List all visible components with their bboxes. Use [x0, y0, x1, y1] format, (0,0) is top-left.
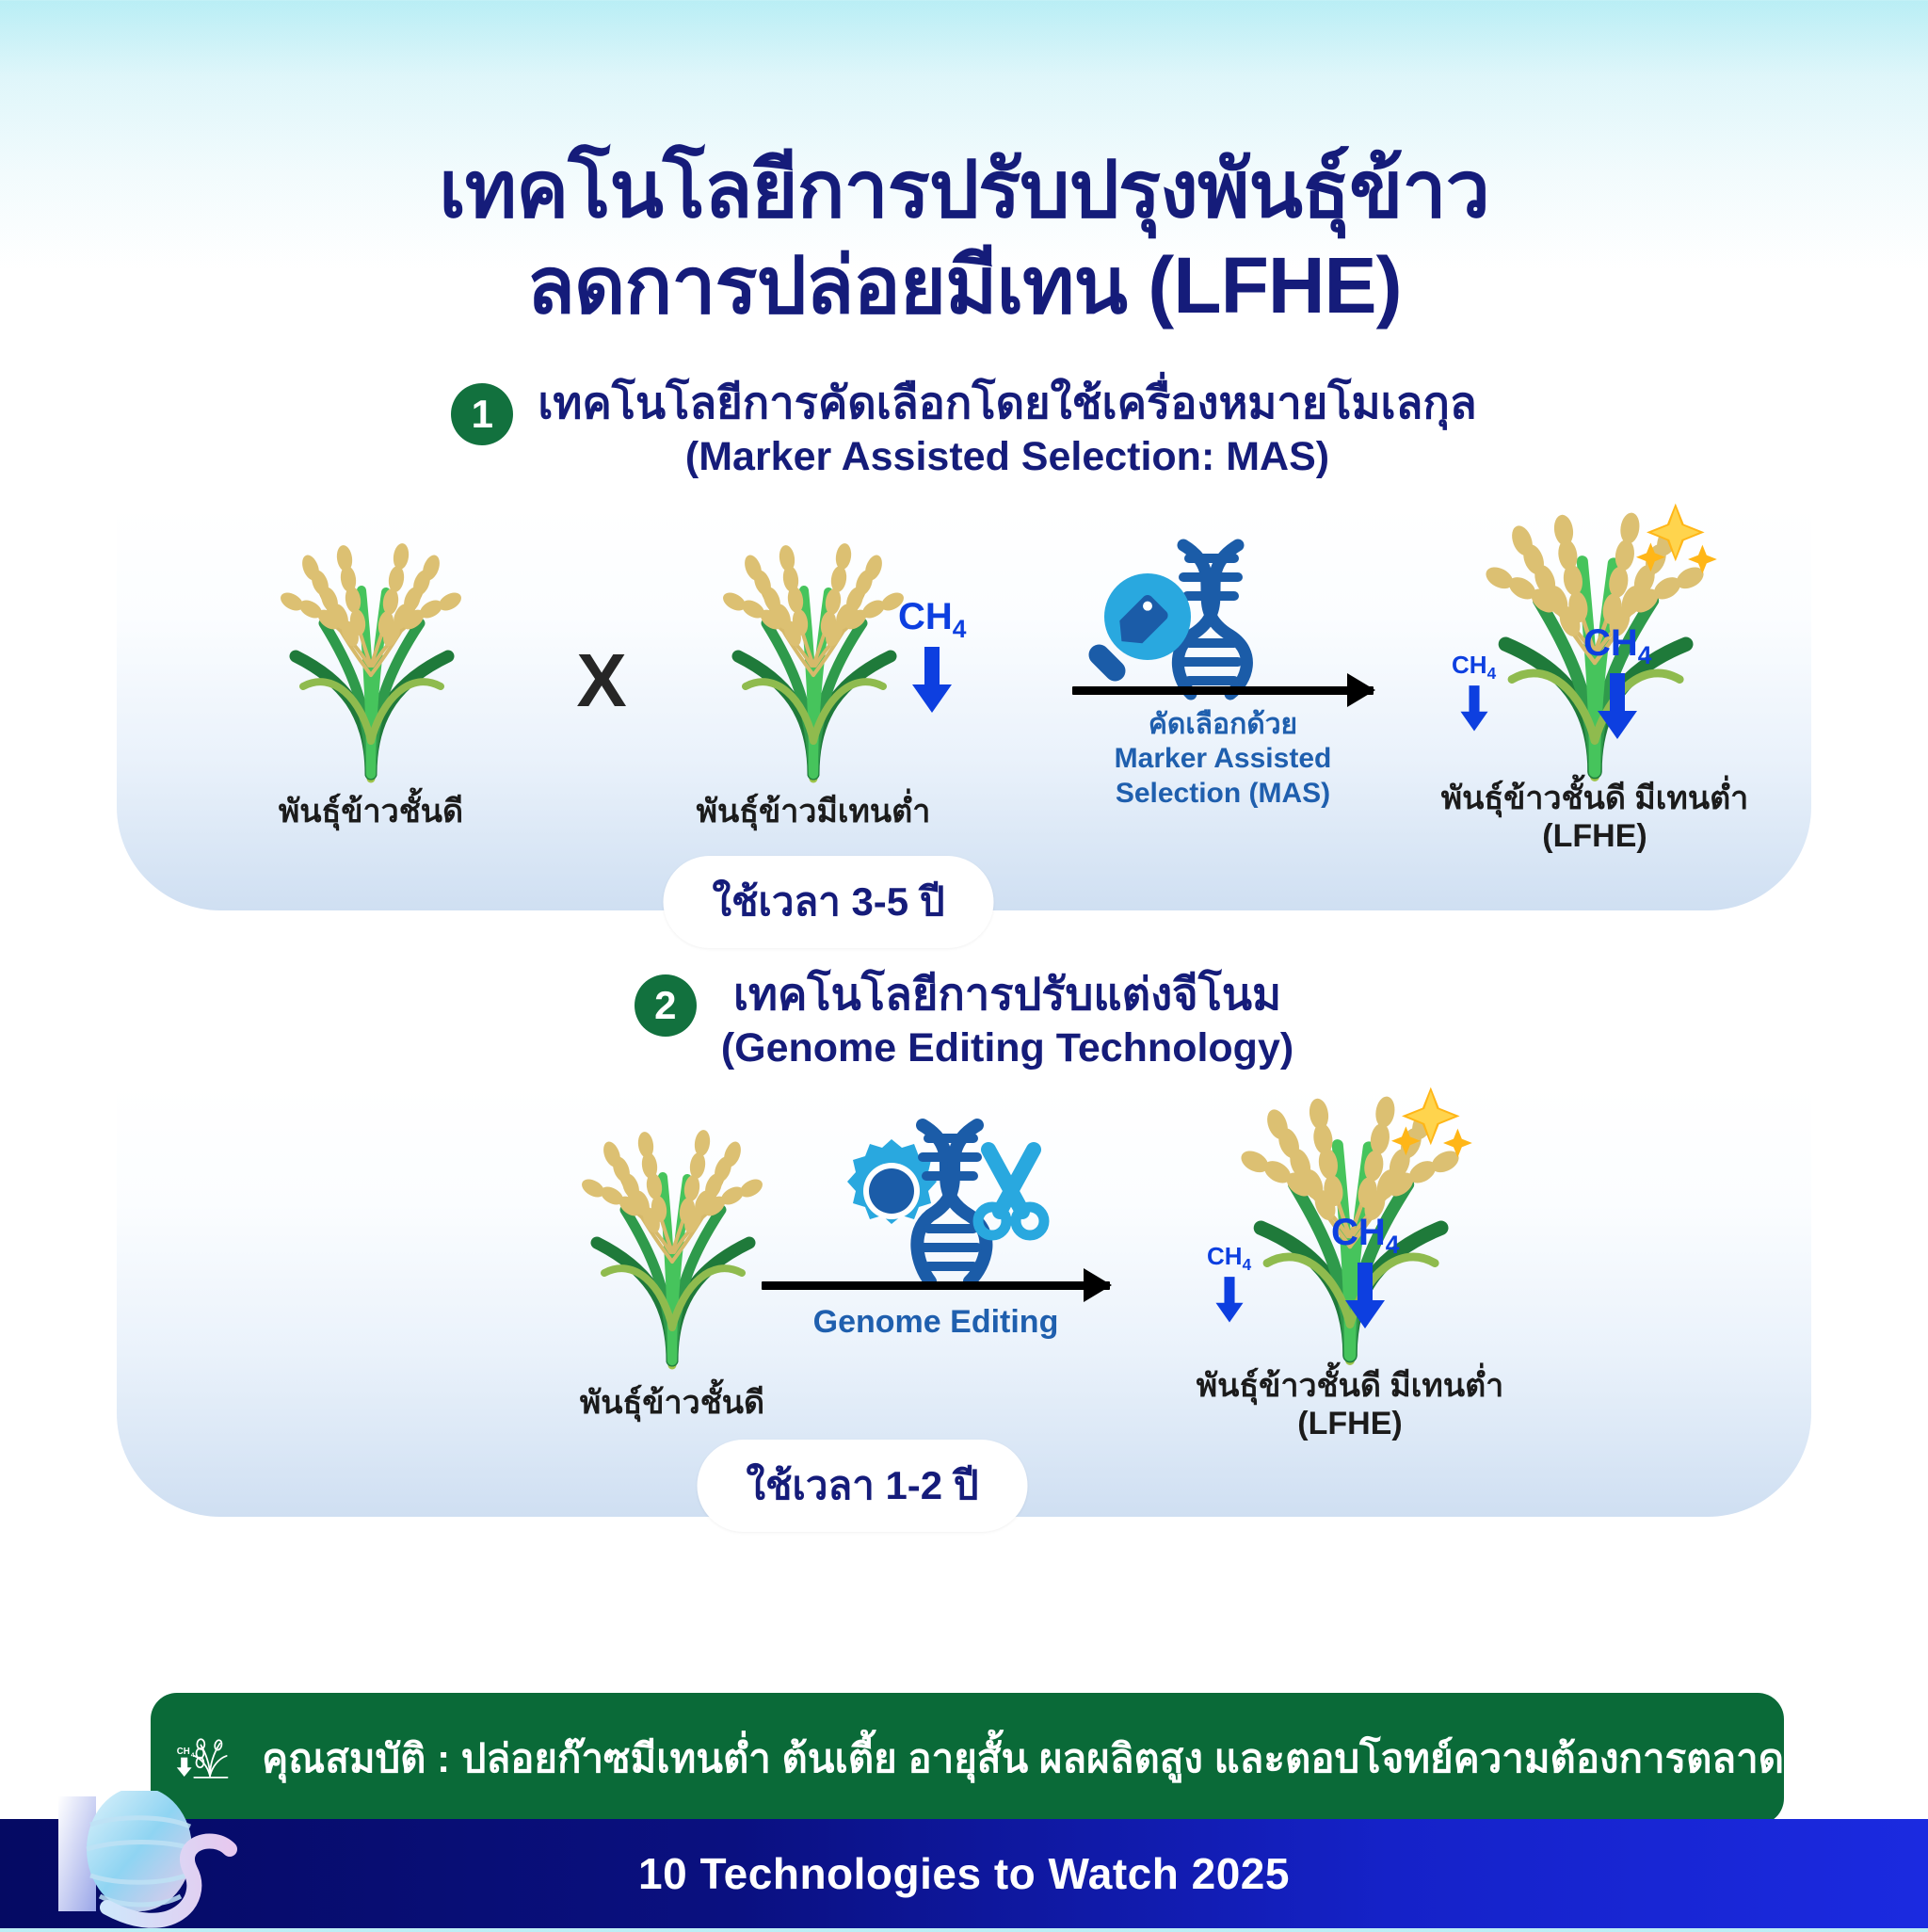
- mas-arrow-block: คัดเลือกด้วย Marker Assisted Selection (…: [1058, 686, 1388, 812]
- down-arrow-icon: [1213, 1277, 1246, 1324]
- plant-elite-1: พันธุ์ข้าวชั้นดี: [230, 524, 512, 830]
- genome-caption-en: Genome Editing: [747, 1303, 1124, 1342]
- process-arrow-icon: [762, 1281, 1110, 1290]
- sparkle-icon: [1391, 1087, 1472, 1157]
- ch4-label: CH: [1207, 1242, 1243, 1270]
- ch4-indicator-large: CH4: [1331, 1214, 1399, 1330]
- mas-process-icon-wrap: [1058, 534, 1303, 708]
- title-line-2: ลดการปล่อยมีเทน (LFHE): [0, 237, 1928, 333]
- down-arrow-icon: [1457, 685, 1491, 733]
- process-arrow-icon: [1072, 686, 1374, 695]
- down-arrow-icon: [908, 647, 956, 715]
- bottom-bar: 10 Technologies to Watch 2025: [0, 1819, 1928, 1928]
- mas-caption-th: คัดเลือกด้วย: [1058, 708, 1388, 743]
- ch4-indicator-large: CH4: [1583, 624, 1651, 741]
- plant-elite-1-label: พันธุ์ข้าวชั้นดี: [230, 793, 512, 830]
- section-2-card: พันธุ์ข้าวชั้นดี: [117, 1084, 1811, 1517]
- ch4-indicator-small: CH4: [1452, 652, 1496, 733]
- down-arrow-icon: [1341, 1263, 1390, 1330]
- section-2-heading-en: (Genome Editing Technology): [721, 1023, 1293, 1074]
- ch4-label: CH: [898, 596, 953, 637]
- section-2-heading: 2 เทคโนโลยีการปรับแต่งจีโนม (Genome Edit…: [0, 969, 1928, 1074]
- section-2-heading-th: เทคโนโลยีการปรับแต่งจีโนม: [721, 969, 1293, 1020]
- cross-symbol: X: [559, 637, 644, 724]
- page-title: เทคโนโลยีการปรับปรุงพันธุ์ข้าว ลดการปล่อ…: [0, 0, 1928, 334]
- genome-arrow-block: Genome Editing: [747, 1281, 1124, 1342]
- section-1-heading-en: (Marker Assisted Selection: MAS): [538, 432, 1476, 483]
- gear-dna-scissors-icon: [804, 1112, 1068, 1300]
- genome-editing-icon-wrap: [795, 1112, 1077, 1305]
- ch4-indicator-small: CH4: [1207, 1244, 1251, 1324]
- ch4-label: CH: [1452, 651, 1487, 679]
- ch4-label: CH: [1331, 1212, 1386, 1253]
- ch4-subscript: 4: [1638, 641, 1652, 669]
- magnifier-dna-icon: [1072, 534, 1289, 703]
- properties-text: คุณสมบัติ : ปล่อยก๊าซมีเทนต่ำ ต้นเตี้ย อ…: [262, 1728, 1784, 1790]
- properties-bar: CH 4 คุณสมบัติ : ปล่อยก๊าซมีเทนต่ำ ต้นเต…: [151, 1693, 1784, 1825]
- bottom-bar-text: 10 Technologies to Watch 2025: [638, 1848, 1290, 1899]
- title-line-1: เทคโนโลยีการปรับปรุงพันธุ์ข้าว: [0, 141, 1928, 237]
- ch4-subscript: 4: [1243, 1255, 1252, 1274]
- section-1-heading: 1 เทคโนโลยีการคัดเลือกโดยใช้เครื่องหมายโ…: [0, 378, 1928, 483]
- plant-low-methane-label: พันธุ์ข้าวมีเทนต่ำ: [672, 793, 955, 830]
- section-2-duration-pill: ใช้เวลา 1-2 ปี: [698, 1440, 1028, 1532]
- section-1-badge: 1: [451, 383, 513, 445]
- section-2-badge: 2: [635, 974, 697, 1037]
- plant-elite-2-label: พันธุ์ข้าวชั้นดี: [531, 1384, 813, 1422]
- mas-caption-en-2: Selection (MAS): [1058, 777, 1388, 812]
- plant-result-1-label-en: (LFHE): [1397, 817, 1792, 855]
- plant-elite-2: พันธุ์ข้าวชั้นดี: [531, 1106, 813, 1422]
- plant-result-1-label-th: พันธุ์ข้าวชั้นดี มีเทนต่ำ: [1397, 780, 1792, 817]
- mas-caption-en-1: Marker Assisted: [1058, 742, 1388, 777]
- svg-text:CH: CH: [177, 1747, 190, 1757]
- down-arrow-icon: [1593, 673, 1642, 741]
- 10-logo: [28, 1791, 264, 1932]
- sparkle-icon: [1636, 503, 1717, 573]
- section-1-heading-th: เทคโนโลยีการคัดเลือกโดยใช้เครื่องหมายโมเ…: [538, 378, 1476, 428]
- plant-result-2-label-en: (LFHE): [1152, 1405, 1548, 1442]
- ch4-subscript: 4: [1487, 664, 1497, 683]
- section-1-duration-pill: ใช้เวลา 3-5 ปี: [664, 856, 994, 948]
- ch4-subscript: 4: [953, 615, 967, 643]
- plant-result-2-label-th: พันธุ์ข้าวชั้นดี มีเทนต่ำ: [1152, 1367, 1548, 1405]
- scissors-icon: [978, 1150, 1044, 1235]
- rice-plant-icon: [230, 524, 512, 788]
- ch4-label: CH: [1583, 622, 1638, 664]
- ch4-indicator: CH4: [898, 598, 966, 715]
- ch4-subscript: 4: [1386, 1231, 1400, 1259]
- section-1-card: พันธุ์ข้าวชั้นดี X: [117, 506, 1811, 910]
